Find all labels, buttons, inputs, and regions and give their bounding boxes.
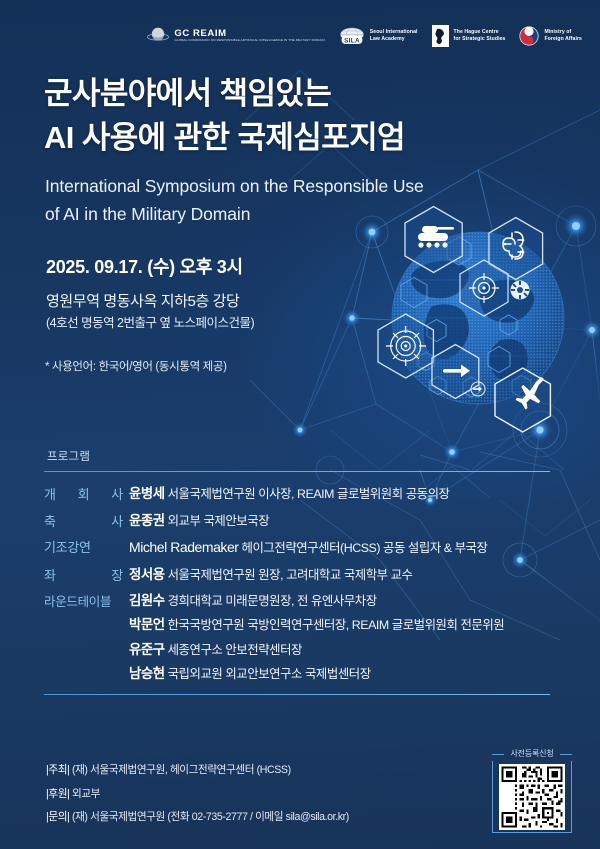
footer-row-sponsor: |후원| 외교부 [46,786,349,801]
crosshair-target-icon [460,260,508,316]
gc-reaim-orb-icon [147,24,169,48]
qr-frame [492,761,572,833]
taegeuk-icon [519,26,539,46]
qr-code-icon[interactable] [499,764,565,830]
title-korean-line1: 군사분야에서 책임있는 [44,76,331,111]
svg-text:SILA: SILA [344,37,360,44]
speaker-name: Michel Rademaker [129,539,239,555]
logo-mofa: Ministry of Foreign Affairs [519,26,582,46]
arrow-right-small-icon [471,382,485,396]
logo-sila: SILA Seoul International Law Academy [339,26,418,46]
qr-caption: 사전등록신청 [492,748,572,759]
footer-info: |주최| (재) 서울국제법연구원, 헤이그전략연구센터 (HCSS) |후원|… [46,762,349,833]
program-row-label: 개 회 사 [44,484,129,503]
logo-gc-reaim: GC REAIM GLOBAL COMMISSION ON RESPONSIBL… [147,24,324,48]
logo-mofa-line2: Foreign Affairs [544,36,582,43]
speaker-name: 김원수 [129,593,165,608]
footer-row-organizer: |주최| (재) 서울국제법연구원, 헤이그전략연구센터 (HCSS) [46,762,349,777]
event-venue: 영원무역 명동사옥 지하5층 강당 [46,290,239,311]
program-row-label: 좌 장 [44,565,129,584]
speaker-name: 유준구 [129,642,165,657]
footer-row-contact: |문의| (재) 서울국제법연구원 (전화 02-735-2777 / 이메일 … [46,809,349,824]
page-title: 군사분야에서 책임있는 AI 사용에 관한 국제심포지엄 [44,72,514,160]
speaker-detail: 서울국제법연구원 원장, 고려대학교 국제학부 교수 [168,568,413,582]
program-row: 축 사 윤종권 외교부 국제안보국장 [44,511,564,531]
hcss-mark-icon [432,25,449,47]
roundtable-member: 유준구 세종연구소 안보전략센터장 [129,640,504,660]
program-row-value: 정서용 서울국제법연구원 원장, 고려대학교 국제학부 교수 [129,565,413,585]
program-row-value: 윤병세 서울국제법연구원 이사장, REAIM 글로벌위원회 공동의장 [129,484,450,504]
event-datetime: 2025. 09.17. (수) 오후 3시 [46,253,243,279]
footer-value: 외교부 [72,788,100,800]
footer-key: |후원| [46,788,69,800]
program-heading: 프로그램 [47,448,90,464]
radar-target-icon [378,314,433,378]
subtitle-english: International Symposium on the Responsib… [45,172,485,229]
logo-sila-line2: Law Academy [370,36,418,43]
label-char: 장 [111,565,123,584]
speaker-detail: 경희대학교 미래문명원장, 전 유엔사무차장 [168,594,377,608]
program-row-label: 기조강연 [44,537,129,556]
program-list: 개 회 사 윤병세 서울국제법연구원 이사장, REAIM 글로벌위원회 공동의… [44,484,564,694]
roundtable-member: 박문언 한국국방연구원 국방인력연구센터장, REAIM 글로벌위원회 전문위원 [129,615,504,635]
sponsor-logo-bar: GC REAIM GLOBAL COMMISSION ON RESPONSIBL… [0,16,600,56]
speaker-name: 윤병세 [129,486,165,501]
speaker-detail: 세종연구소 안보전략센터장 [168,643,302,657]
label-char: 개 [44,484,56,503]
speaker-detail: 한국국방연구원 국방인력연구센터장, REAIM 글로벌위원회 전문위원 [168,618,505,632]
speaker-detail: 헤이그전략연구센터(HCSS) 공동 설립자 & 부국장 [242,541,488,555]
speaker-detail: 외교부 국제안보국장 [168,514,270,528]
logo-gc-reaim-subtitle: GLOBAL COMMISSION ON RESPONSIBLE ARTIFIC… [174,39,324,42]
ai-chip-brain-icon [489,218,543,280]
poster-canvas: GC REAIM GLOBAL COMMISSION ON RESPONSIBL… [0,0,600,849]
fighter-jet-icon [495,368,550,432]
program-row-roundtable: 라운드테이블 김원수 경희대학교 미래문명원장, 전 유엔사무차장 박문언 한국… [44,591,564,687]
event-venue-detail: (4호선 명동역 2번출구 옆 노스페이스건물) [46,312,254,331]
sila-globe-icon: SILA [339,26,365,46]
title-korean-line2: AI 사용에 관한 국제심포지엄 [44,116,514,160]
speaker-name: 박문언 [129,617,165,632]
speaker-name: 정서용 [129,567,165,582]
label-char: 사 [111,484,123,503]
speaker-name: 남승현 [129,666,165,681]
program-row-label: 축 사 [44,511,129,530]
program-row-value: Michel Rademaker 헤이그전략연구센터(HCSS) 공동 설립자 … [129,537,487,558]
label-char: 축 [44,511,56,530]
label-char: 좌 [44,565,56,584]
program-row-value: 윤종권 외교부 국제안보국장 [129,511,269,531]
speaker-name: 윤종권 [129,513,165,528]
roundtable-member: 김원수 경희대학교 미래문명원장, 전 유엔사무차장 [129,591,504,611]
logo-hcss: The Hague Centre for Strategic Studies [432,25,506,47]
footer-key: |주최| [46,764,69,776]
divider-top [44,471,550,472]
label-char: 사 [111,511,123,530]
program-row: 좌 장 정서용 서울국제법연구원 원장, 고려대학교 국제학부 교수 [44,565,564,585]
divider-bottom [44,694,550,695]
roundtable-members: 김원수 경희대학교 미래문명원장, 전 유엔사무차장 박문언 한국국방연구원 국… [129,591,504,687]
roundtable-label: 라운드테이블 [44,591,129,610]
logo-hcss-line2: for Strategic Studies [454,36,506,43]
footer-value: (재) 서울국제법연구원 (전화 02-735-2777 / 이메일 sila@… [72,811,349,823]
program-row: 개 회 사 윤병세 서울국제법연구원 이사장, REAIM 글로벌위원회 공동의… [44,484,564,504]
speaker-detail: 서울국제법연구원 이사장, REAIM 글로벌위원회 공동의장 [168,487,450,501]
footer-key: |문의| [46,811,69,823]
gear-icon [511,281,530,300]
arrow-right-icon [432,345,485,399]
label-char: 회 [78,484,90,503]
roundtable-member: 남승현 국립외교원 외교안보연구소 국제법센터장 [129,664,504,684]
qr-registration-block[interactable]: 사전등록신청 [492,748,572,833]
program-row: 기조강연 Michel Rademaker 헤이그전략연구센터(HCSS) 공동… [44,537,564,558]
footer-value: (재) 서울국제법연구원, 헤이그전략연구센터 (HCSS) [72,764,291,776]
title-english-line2: of AI in the Military Domain [45,204,250,224]
title-english-line1: International Symposium on the Responsib… [45,176,424,196]
speaker-detail: 국립외교원 외교안보연구소 국제법센터장 [168,667,371,681]
language-note: * 사용언어: 한국어/영어 (동시통역 제공) [45,358,227,374]
